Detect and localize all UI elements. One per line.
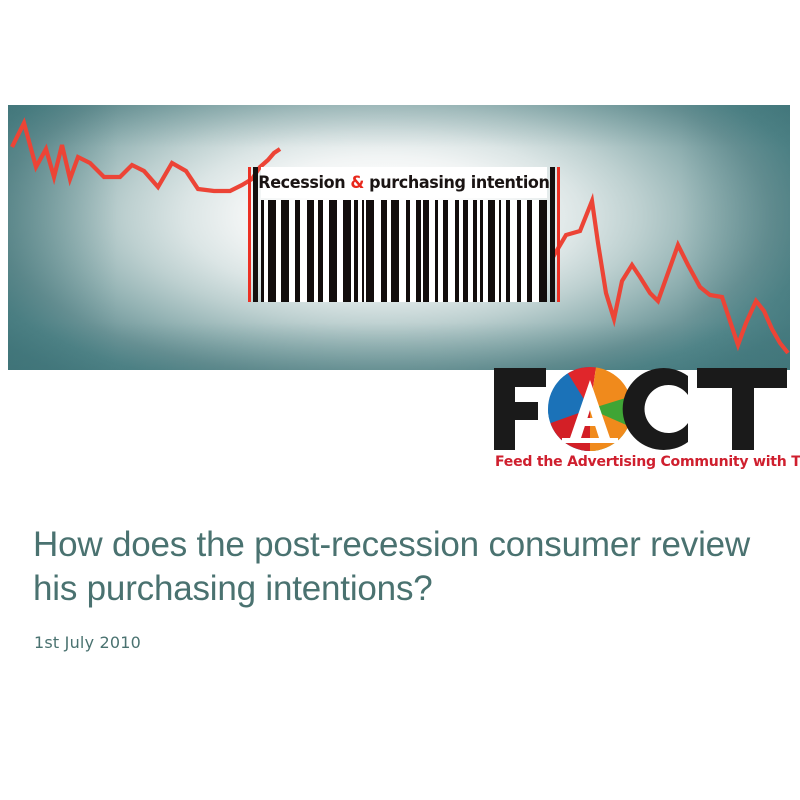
barcode-label: Recession & purchasing intention [261, 167, 547, 198]
barcode-bar [488, 200, 495, 302]
barcode-graphic: Recession & purchasing intention [248, 167, 560, 302]
barcode-bar [473, 200, 477, 302]
barcode-label-ampersand: & [351, 173, 365, 193]
barcode-bar [517, 200, 521, 302]
title-block: How does the post-recession consumer rev… [33, 523, 763, 652]
barcode-bar [362, 200, 364, 302]
barcode-bar [366, 200, 374, 302]
barcode-bar [435, 200, 438, 302]
barcode-bars [261, 200, 547, 302]
barcode-bar [455, 200, 459, 302]
logo-letter-c [623, 368, 688, 450]
fact-logo: Feed the Advertising Community with Tren… [492, 366, 792, 478]
barcode-bar [480, 200, 483, 302]
hero-banner-image: Recession & purchasing intention [8, 105, 790, 370]
barcode-bar [329, 200, 337, 302]
logo-letter-a-wheel [548, 367, 633, 452]
barcode-bar [506, 200, 510, 302]
barcode-bar [443, 200, 448, 302]
barcode-bar [527, 200, 532, 302]
fact-logo-letters [492, 366, 792, 452]
barcode-bar [281, 200, 289, 302]
barcode-edge-bar-right [550, 167, 555, 302]
barcode-label-text: Recession & purchasing intention [258, 173, 549, 193]
barcode-bar [416, 200, 421, 302]
barcode-bar [268, 200, 276, 302]
logo-letter-t [697, 368, 787, 450]
barcode-bar [343, 200, 351, 302]
line-series-left [12, 123, 280, 191]
barcode-bar [463, 200, 468, 302]
logo-letter-f [494, 368, 546, 450]
barcode-guard-right [557, 167, 560, 302]
slide-date: 1st July 2010 [34, 633, 763, 652]
barcode-bar [295, 200, 300, 302]
barcode-bar [261, 200, 264, 302]
barcode-bar [539, 200, 547, 302]
barcode-guard-left [248, 167, 251, 302]
barcode-edge-bar-left [253, 167, 258, 302]
page-title: How does the post-recession consumer rev… [33, 523, 763, 611]
barcode-bar [318, 200, 323, 302]
fact-logo-tagline: Feed the Advertising Community with Tren… [495, 454, 783, 470]
barcode-bar [499, 200, 501, 302]
barcode-bar [354, 200, 358, 302]
barcode-bar [381, 200, 387, 302]
barcode-bar [406, 200, 410, 302]
barcode-bar [423, 200, 429, 302]
line-series-right [553, 201, 788, 353]
barcode-bar [307, 200, 314, 302]
barcode-bar [391, 200, 399, 302]
